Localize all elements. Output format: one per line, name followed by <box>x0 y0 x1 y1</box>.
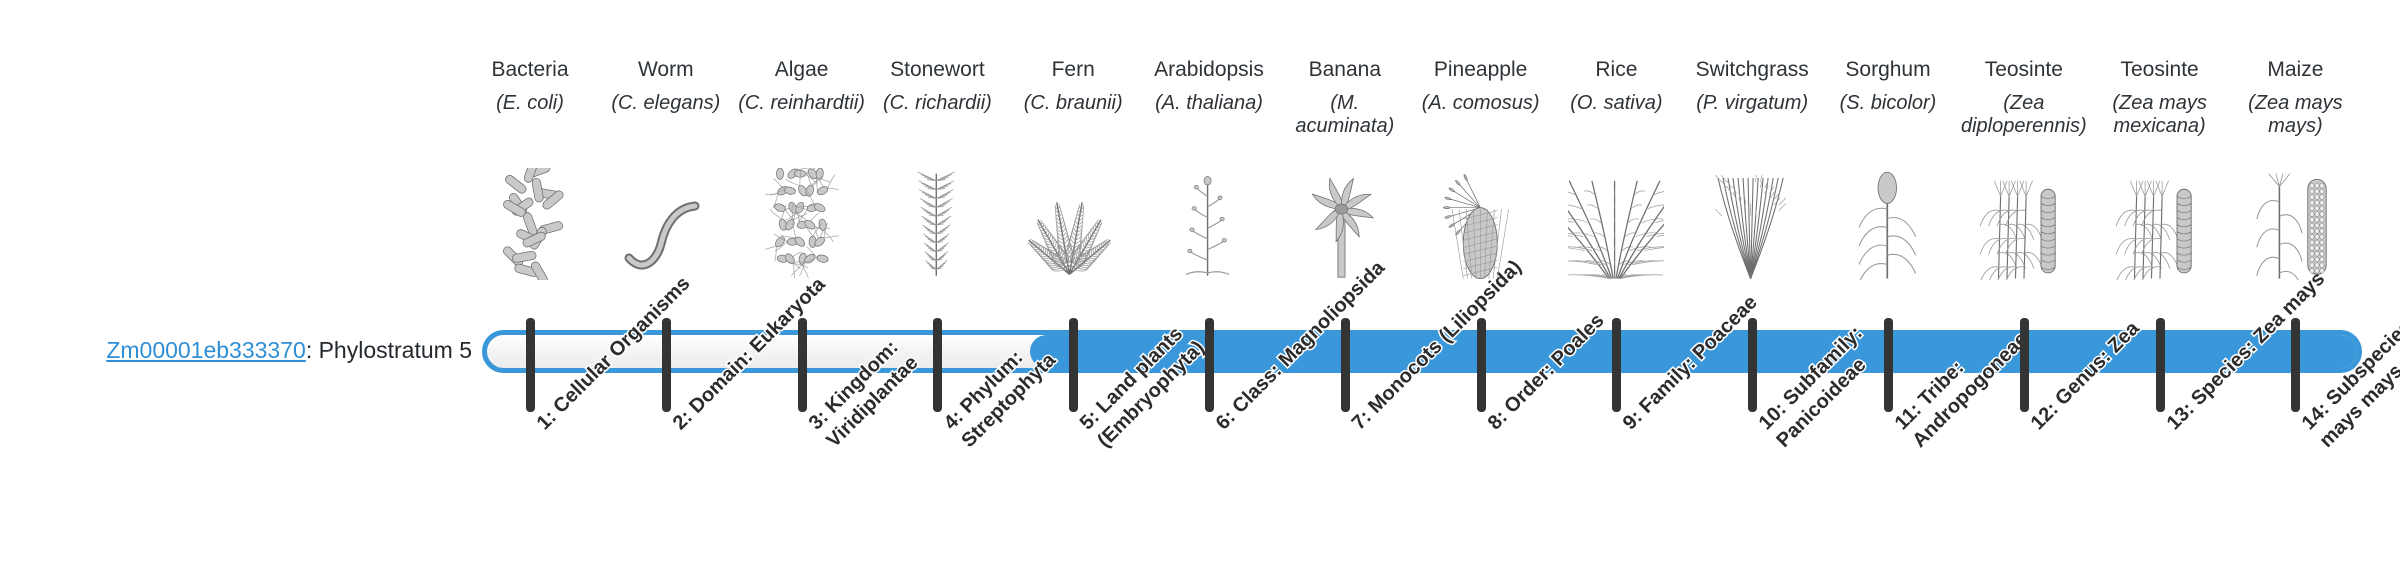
phylostratum-tick[interactable] <box>662 318 671 412</box>
species-column: Teosinte(Zea mays mexicana)13: Species: … <box>2092 0 2228 580</box>
phylostratum-tick[interactable] <box>798 318 807 412</box>
species-scientific-name: (A. thaliana) <box>1143 92 1275 115</box>
species-column: Pineapple(A. comosus)8: Order: Poales <box>1413 0 1549 580</box>
stonewort-illustration <box>869 168 1005 280</box>
species-column: Maize(Zea mays mays)14: Subspecies: Zea … <box>2227 0 2363 580</box>
teosinte-diploperennis-illustration <box>1956 168 2092 280</box>
species-common-name: Maize <box>2227 58 2363 82</box>
species-scientific-name: (C. braunii) <box>1007 92 1139 115</box>
species-column: Stonewort(C. richardii)4: Phylum: Strept… <box>869 0 1005 580</box>
rice-illustration <box>1548 168 1684 280</box>
switchgrass-illustration <box>1684 168 1820 280</box>
arabidopsis-illustration <box>1141 168 1277 280</box>
phylostratum-tick[interactable] <box>2291 318 2300 412</box>
species-scientific-name: (C. reinhardtii) <box>736 92 868 115</box>
species-column: Arabidopsis(A. thaliana)6: Class: Magnol… <box>1141 0 1277 580</box>
phylostratum-tick[interactable] <box>1069 318 1078 412</box>
species-common-name: Algae <box>734 58 870 82</box>
species-common-name: Teosinte <box>1956 58 2092 82</box>
species-common-name: Bacteria <box>462 58 598 82</box>
species-scientific-name: (E. coli) <box>464 92 596 115</box>
sorghum-illustration <box>1820 168 1956 280</box>
species-column: Teosinte(Zea diploperennis)12: Genus: Ze… <box>1956 0 2092 580</box>
species-common-name: Fern <box>1005 58 1141 82</box>
species-common-name: Worm <box>598 58 734 82</box>
species-column: Banana(M. acuminata)7: Monocots (Liliops… <box>1277 0 1413 580</box>
species-common-name: Pineapple <box>1413 58 1549 82</box>
phylostratum-tick[interactable] <box>1612 318 1621 412</box>
pineapple-illustration <box>1413 168 1549 280</box>
species-scientific-name: (Zea mays mexicana) <box>2094 92 2226 138</box>
species-scientific-name: (C. richardii) <box>871 92 1003 115</box>
phylostratum-tick[interactable] <box>2020 318 2029 412</box>
species-column: Worm(C. elegans)2: Domain: Eukaryota <box>598 0 734 580</box>
species-scientific-name: (S. bicolor) <box>1822 92 1954 115</box>
species-scientific-name: (O. sativa) <box>1550 92 1682 115</box>
species-scientific-name: (Zea mays mays) <box>2229 92 2361 138</box>
phylostratum-figure: Zm00001eb333370: Phylostratum 5 Bacteria… <box>0 0 2400 580</box>
species-column: Bacteria(E. coli)1: Cellular Organisms <box>462 0 598 580</box>
species-column: Rice(O. sativa)9: Family: Poaceae <box>1548 0 1684 580</box>
phylostratum-tick[interactable] <box>1341 318 1350 412</box>
species-common-name: Sorghum <box>1820 58 1956 82</box>
fern-illustration <box>1005 168 1141 280</box>
phylostratum-tick[interactable] <box>2156 318 2165 412</box>
species-columns: Bacteria(E. coli)1: Cellular OrganismsWo… <box>0 0 2400 580</box>
species-common-name: Rice <box>1548 58 1684 82</box>
phylostratum-tick[interactable] <box>933 318 942 412</box>
species-scientific-name: (Zea diploperennis) <box>1958 92 2090 138</box>
species-scientific-name: (M. acuminata) <box>1279 92 1411 138</box>
species-common-name: Banana <box>1277 58 1413 82</box>
phylostratum-tick[interactable] <box>1884 318 1893 412</box>
phylostratum-tick[interactable] <box>1205 318 1214 412</box>
species-common-name: Switchgrass <box>1684 58 1820 82</box>
species-scientific-name: (C. elegans) <box>600 92 732 115</box>
species-scientific-name: (A. comosus) <box>1415 92 1547 115</box>
species-column: Switchgrass(P. virgatum)10: Subfamily: P… <box>1684 0 1820 580</box>
species-column: Algae(C. reinhardtii)3: Kingdom: Viridip… <box>734 0 870 580</box>
species-column: Sorghum(S. bicolor)11: Tribe: Andropogon… <box>1820 0 1956 580</box>
phylostratum-tick[interactable] <box>1748 318 1757 412</box>
phylostratum-tick[interactable] <box>526 318 535 412</box>
teosinte-mexicana-illustration <box>2092 168 2228 280</box>
banana-illustration <box>1277 168 1413 280</box>
species-scientific-name: (P. virgatum) <box>1686 92 1818 115</box>
species-column: Fern(C. braunii)5: Land plants (Embryoph… <box>1005 0 1141 580</box>
species-common-name: Stonewort <box>869 58 1005 82</box>
phylostratum-rank-label: 14: Subspecies: Zea mays mays <box>2297 255 2400 453</box>
bacteria-illustration <box>462 168 598 280</box>
species-common-name: Arabidopsis <box>1141 58 1277 82</box>
nematode-illustration <box>598 168 734 280</box>
phylostratum-tick[interactable] <box>1477 318 1486 412</box>
maize-illustration <box>2227 168 2363 280</box>
species-common-name: Teosinte <box>2092 58 2228 82</box>
algae-illustration <box>734 168 870 280</box>
